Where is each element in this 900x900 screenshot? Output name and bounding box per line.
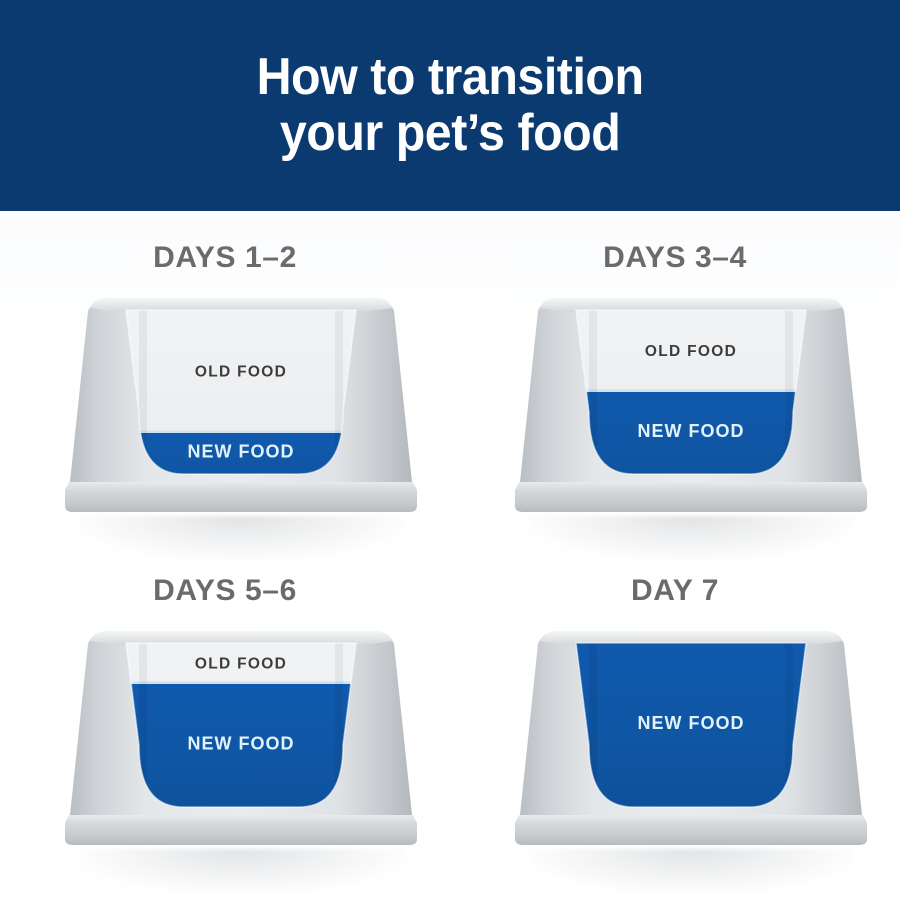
bowl-graphic: OLD FOOD NEW FOOD xyxy=(63,296,419,521)
steps-grid: DAYS 1–2 xyxy=(0,211,900,900)
page-title-line-1: How to transition xyxy=(256,50,643,106)
step-card-days-5-6[interactable]: DAYS 5–6 xyxy=(0,544,450,889)
step-card-days-1-2[interactable]: DAYS 1–2 xyxy=(0,211,450,556)
steps-board: DAYS 1–2 xyxy=(0,211,900,900)
day-label-days-1-2: DAYS 1–2 xyxy=(0,241,450,275)
new-food-label: NEW FOOD xyxy=(638,421,745,441)
day-label-days-3-4: DAYS 3–4 xyxy=(450,241,900,275)
bowl-base xyxy=(65,482,417,512)
food-bowl-days-3-4: OLD FOOD NEW FOOD xyxy=(513,296,869,521)
old-food-label: OLD FOOD xyxy=(645,343,737,360)
day-label-day-7: DAY 7 xyxy=(450,574,900,608)
food-bowl-day-7: NEW FOOD xyxy=(513,629,869,854)
bowl-reflection xyxy=(78,849,404,893)
bowl-base xyxy=(515,482,867,512)
page-title: How to transition your pet’s food xyxy=(238,50,662,161)
old-food-label: OLD FOOD xyxy=(195,656,287,673)
old-food-label: OLD FOOD xyxy=(195,364,287,381)
bowl-base xyxy=(515,815,867,845)
new-food-label: NEW FOOD xyxy=(638,713,745,733)
new-food-label: NEW FOOD xyxy=(188,442,295,462)
bowl-graphic: NEW FOOD xyxy=(513,629,869,854)
food-bowl-days-1-2: OLD FOOD NEW FOOD xyxy=(63,296,419,521)
food-bowl-days-5-6: OLD FOOD NEW FOOD xyxy=(63,629,419,854)
day-label-days-5-6: DAYS 5–6 xyxy=(0,574,450,608)
header-banner: How to transition your pet’s food xyxy=(0,0,900,211)
step-card-day-7[interactable]: DAY 7 xyxy=(450,544,900,889)
new-food-label: NEW FOOD xyxy=(188,734,295,754)
bowl-base xyxy=(65,815,417,845)
step-card-days-3-4[interactable]: DAYS 3–4 xyxy=(450,211,900,556)
bowl-graphic: OLD FOOD NEW FOOD xyxy=(513,296,869,521)
bowl-reflection xyxy=(528,849,854,893)
page-title-line-2: your pet’s food xyxy=(256,106,643,162)
bowl-graphic: OLD FOOD NEW FOOD xyxy=(63,629,419,854)
